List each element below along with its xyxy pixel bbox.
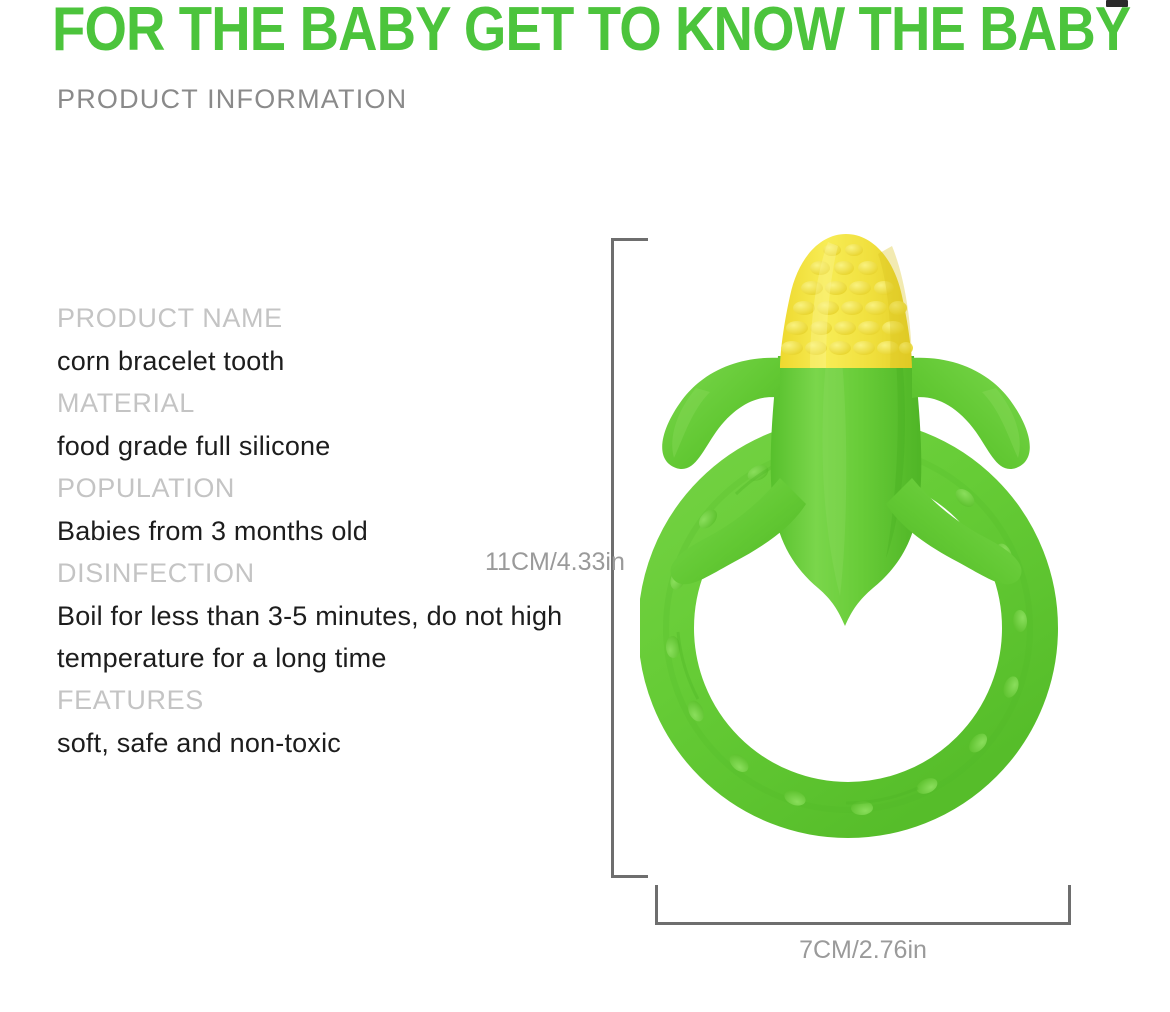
spec-row: MATERIAL food grade full silicone [57,382,577,467]
height-dimension-label: 11CM/4.33in [485,548,625,577]
spec-value-product-name: corn bracelet tooth [57,340,577,382]
spec-value-material: food grade full silicone [57,425,577,467]
spec-row: FEATURES soft, safe and non-toxic [57,679,577,764]
spec-label-product-name: PRODUCT NAME [57,297,577,340]
spec-value-disinfection: Boil for less than 3-5 minutes, do not h… [57,595,577,679]
husk-body-shape [771,356,922,626]
page-subtitle: PRODUCT INFORMATION [57,82,407,116]
corn-cob-shape [780,234,913,368]
width-dimension-line [655,922,1071,925]
spec-list: PRODUCT NAME corn bracelet tooth MATERIA… [57,297,577,764]
spec-label-features: FEATURES [57,679,577,722]
page-headline: FOR THE BABY GET TO KNOW THE BABY [52,0,1130,66]
spec-label-material: MATERIAL [57,382,577,425]
width-dimension-cap-right [1068,885,1071,925]
spec-row: PRODUCT NAME corn bracelet tooth [57,297,577,382]
spec-label-population: POPULATION [57,467,577,510]
spec-row: POPULATION Babies from 3 months old [57,467,577,552]
product-information-page: FOR THE BABY GET TO KNOW THE BABY PRODUC… [0,0,1170,1012]
spec-value-population: Babies from 3 months old [57,510,577,552]
product-image-corn-teether [640,228,1070,873]
spec-value-features: soft, safe and non-toxic [57,722,577,764]
width-dimension-cap-left [655,885,658,925]
height-dimension-cap-bottom [611,875,648,878]
width-dimension-label: 7CM/2.76in [655,936,1071,965]
